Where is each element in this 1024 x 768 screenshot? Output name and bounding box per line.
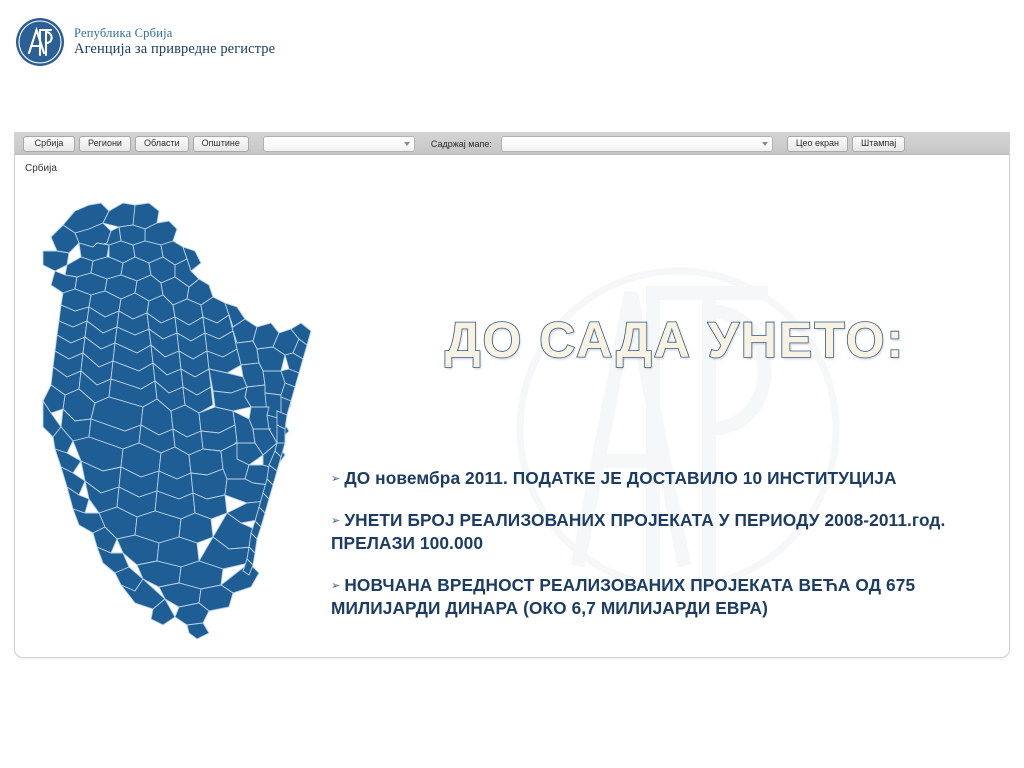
toolbar-button-regioni[interactable]: Региони <box>79 136 131 152</box>
map-region-label: Србија <box>25 163 57 174</box>
brand-text: Република Србија Агенција за привредне р… <box>74 26 275 59</box>
bullet-text: НОВЧАНА ВРЕДНОСТ РЕАЛИЗОВАНИХ ПРОЈЕКАТА … <box>331 575 915 617</box>
bullet-item: ➢НОВЧАНА ВРЕДНОСТ РЕАЛИЗОВАНИХ ПРОЈЕКАТА… <box>331 574 1010 619</box>
toolbar-button-opstine[interactable]: Општине <box>193 136 249 152</box>
map-content-select[interactable] <box>501 136 773 152</box>
fullscreen-button[interactable]: Цео екран <box>787 136 848 152</box>
chevron-down-icon <box>762 142 768 146</box>
bullet-list: ➢ДО новембра 2011. ПОДАТКЕ ЈЕ ДОСТАВИЛО … <box>331 467 1010 619</box>
map-toolbar: Србија Региони Области Општине Садржај м… <box>15 133 1010 155</box>
arrow-bullet-icon: ➢ <box>331 473 340 485</box>
chevron-down-icon <box>404 142 410 146</box>
bullet-item: ➢УНЕТИ БРОЈ РЕАЛИЗОВАНИХ ПРОЈЕКАТА У ПЕР… <box>331 509 1010 554</box>
level-select[interactable] <box>263 136 415 152</box>
arrow-bullet-icon: ➢ <box>331 515 340 527</box>
print-button[interactable]: Штампај <box>852 136 905 152</box>
brand-country: Република Србија <box>74 26 275 41</box>
map-content-label: Садржај мапе: <box>431 139 492 149</box>
serbia-municipalities-map[interactable] <box>23 181 313 651</box>
brand-agency: Агенција за привредне регистре <box>74 41 275 59</box>
toolbar-button-oblasti[interactable]: Области <box>135 136 189 152</box>
map-application-panel: Србија Региони Области Општине Садржај м… <box>14 132 1010 658</box>
arrow-bullet-icon: ➢ <box>331 580 340 592</box>
page-title: ДО САДА УНЕТО: <box>345 311 1005 369</box>
bullet-text: УНЕТИ БРОЈ РЕАЛИЗОВАНИХ ПРОЈЕКАТА У ПЕРИ… <box>331 510 945 552</box>
bullet-text: ДО новембра 2011. ПОДАТКЕ ЈЕ ДОСТАВИЛО 1… <box>344 468 896 488</box>
apr-logo-icon <box>14 16 66 68</box>
toolbar-button-srbija[interactable]: Србија <box>23 136 75 152</box>
page-header: Република Србија Агенција за привредне р… <box>0 0 1024 92</box>
bullet-item: ➢ДО новембра 2011. ПОДАТКЕ ЈЕ ДОСТАВИЛО … <box>331 467 1010 489</box>
